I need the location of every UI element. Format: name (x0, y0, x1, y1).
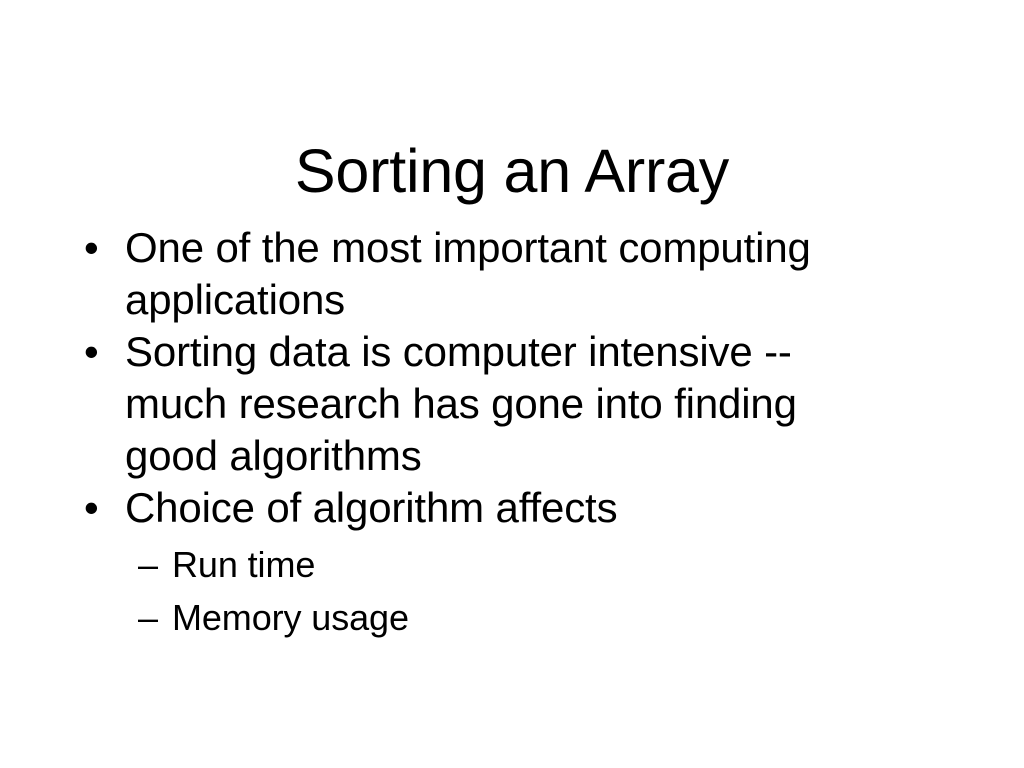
list-item: • One of the most important computing ap… (84, 222, 904, 326)
list-item: • Sorting data is computer intensive -- … (84, 326, 904, 482)
sub-list: – Run time – Memory usage (84, 538, 904, 644)
page-title: Sorting an Array (0, 139, 1024, 204)
sub-list-item: – Run time (84, 538, 904, 591)
sub-bullet-text: Run time (172, 538, 904, 591)
bullet-text: One of the most important computing appl… (125, 222, 881, 326)
list-item: • Choice of algorithm affects (84, 482, 904, 534)
bullet-dot-icon: • (84, 326, 125, 378)
slide-body-content: • One of the most important computing ap… (84, 222, 904, 644)
dash-icon: – (138, 591, 172, 644)
bullet-dot-icon: • (84, 222, 125, 274)
bullet-text: Choice of algorithm affects (125, 482, 881, 534)
slide-canvas: Sorting an Array • One of the most impor… (0, 0, 1024, 768)
bullet-text: Sorting data is computer intensive -- mu… (125, 326, 881, 482)
sub-list-item: – Memory usage (84, 591, 904, 644)
dash-icon: – (138, 538, 172, 591)
bullet-dot-icon: • (84, 482, 125, 534)
sub-bullet-text: Memory usage (172, 591, 904, 644)
